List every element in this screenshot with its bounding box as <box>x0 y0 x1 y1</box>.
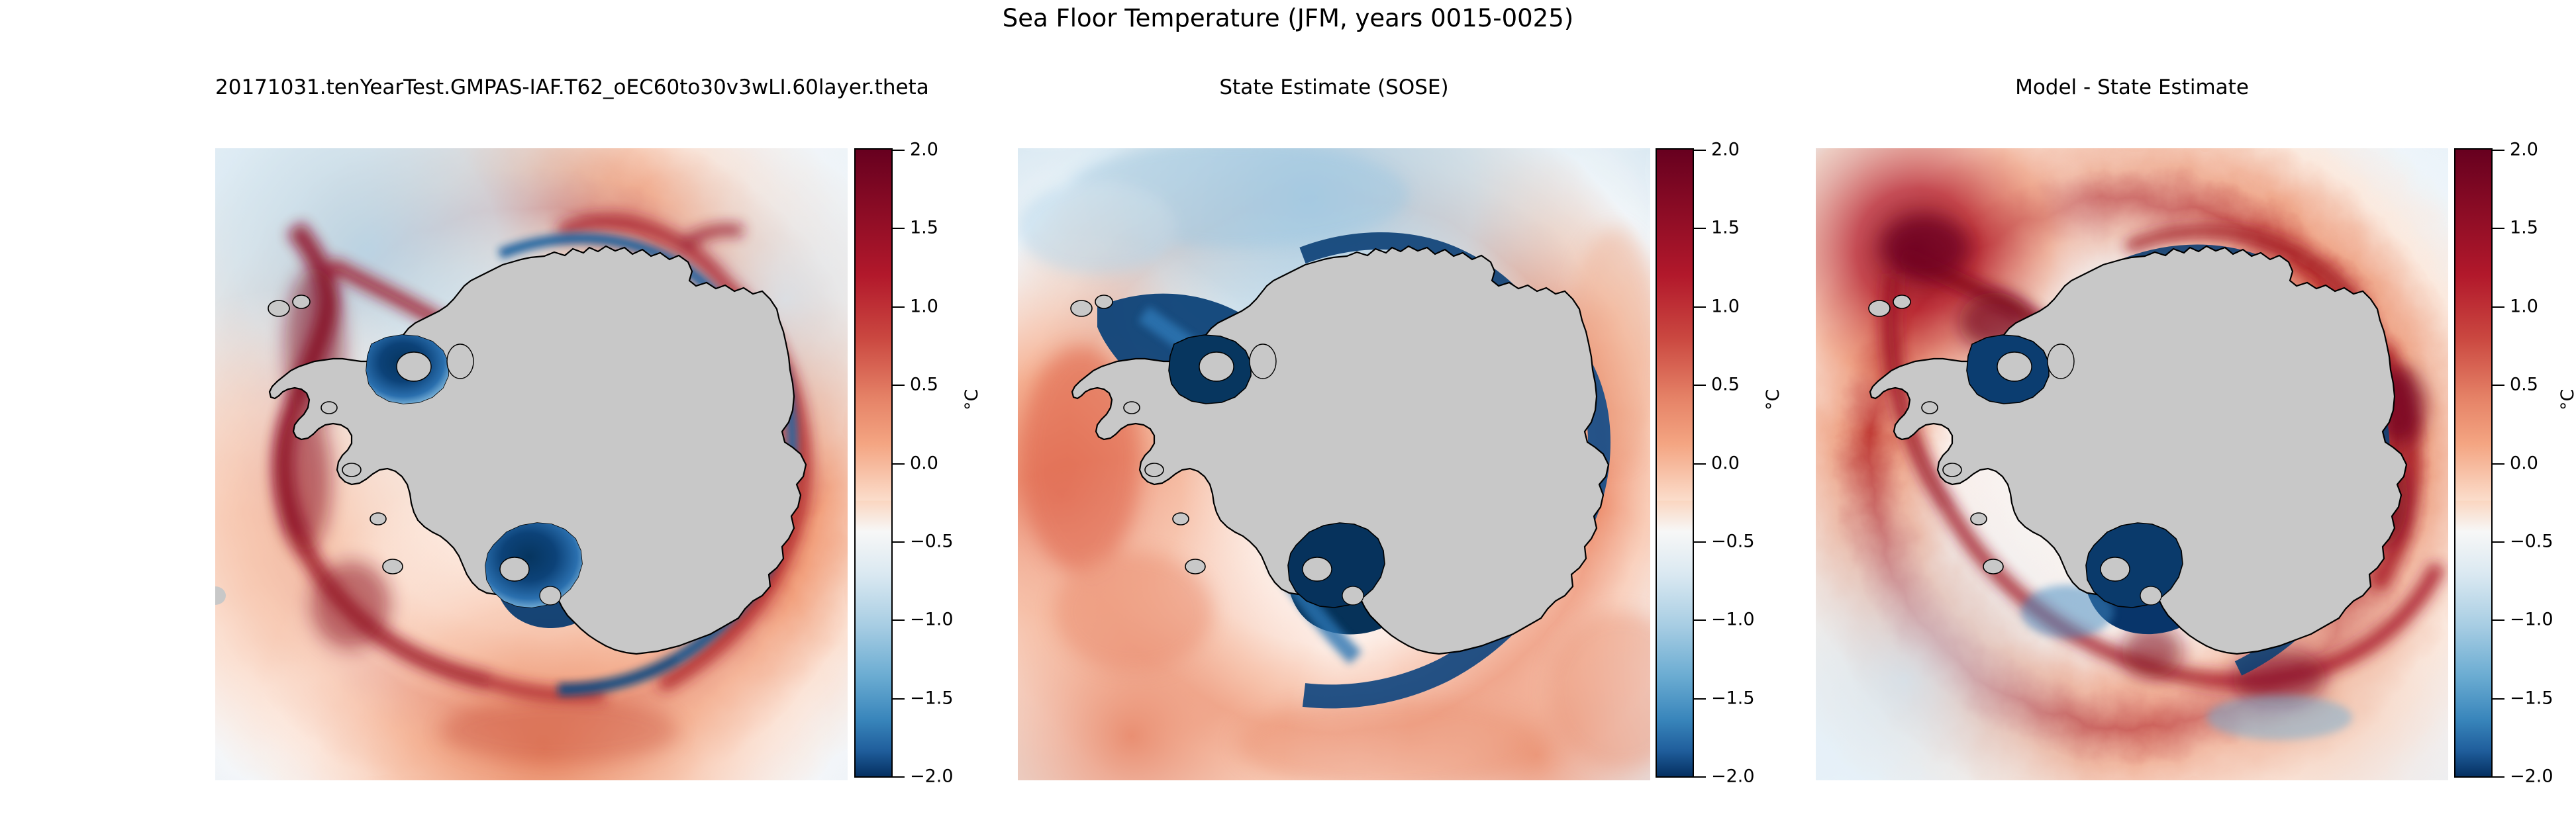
colorbar-tick-mark <box>893 463 905 465</box>
colorbar-tick-mark <box>1694 541 1706 543</box>
colorbar-tick-mark <box>1694 776 1706 778</box>
colorbar-gradient-difference <box>2455 150 2491 776</box>
colorbar-tick-label: 1.5 <box>1711 218 1740 238</box>
colorbar-tick-mark <box>893 541 905 543</box>
colorbar-tick-label: 2.0 <box>2510 140 2538 160</box>
colorbar-ticks-sose: 2.01.51.00.50.0−0.5−1.0−1.5−2.0 <box>1694 148 1787 778</box>
colorbar-tick-label: −0.5 <box>2510 531 2553 551</box>
panel-title-difference: Model - State Estimate <box>1816 75 2448 99</box>
figure-title: Sea Floor Temperature (JFM, years 0015-0… <box>0 4 2576 32</box>
colorbar-tick-label: −1.5 <box>1711 688 1755 708</box>
colorbar-gradient-sose <box>1657 150 1693 776</box>
colorbar-tick-label: −1.5 <box>910 688 954 708</box>
figure-canvas: Sea Floor Temperature (JFM, years 0015-0… <box>0 0 2576 822</box>
colorbar-tick-label: 1.0 <box>1711 296 1740 316</box>
colorbar-unit-difference: °C <box>2557 389 2576 410</box>
colorbar-tick-mark <box>1694 150 1706 151</box>
colorbar-tick-label: 0.5 <box>910 375 938 395</box>
colorbar-tick-label: −1.0 <box>2510 610 2553 630</box>
colorbar-sose[interactable] <box>1656 148 1694 778</box>
map-panel-difference[interactable] <box>1816 148 2448 780</box>
colorbar-tick-mark <box>2493 541 2504 543</box>
colorbar-tick-mark <box>893 150 905 151</box>
colorbar-tick-mark <box>1694 306 1706 308</box>
colorbar-tick-mark <box>893 776 905 778</box>
colorbar-tick-label: 1.5 <box>910 218 938 238</box>
colorbar-tick-mark <box>893 698 905 700</box>
colorbar-tick-mark <box>893 306 905 308</box>
panel-title-sose: State Estimate (SOSE) <box>1018 75 1650 99</box>
map-panel-sose[interactable] <box>1018 148 1650 780</box>
colorbar-tick-label: 0.5 <box>2510 375 2538 395</box>
colorbar-difference[interactable] <box>2454 148 2493 778</box>
colorbar-tick-label: −2.0 <box>2510 766 2553 787</box>
colorbar-tick-label: −2.0 <box>1711 766 1755 787</box>
colorbar-tick-label: −0.5 <box>1711 531 1755 551</box>
map-svg-difference <box>1816 148 2448 780</box>
colorbar-tick-label: −2.0 <box>910 766 954 787</box>
colorbar-tick-label: −1.0 <box>1711 610 1755 630</box>
colorbar-unit-sose: °C <box>1763 389 1783 410</box>
colorbar-gradient-model <box>856 150 891 776</box>
colorbar-tick-label: 0.0 <box>910 453 938 473</box>
colorbar-tick-mark <box>1694 228 1706 229</box>
map-svg-model <box>215 148 848 780</box>
colorbar-tick-mark <box>1694 463 1706 465</box>
colorbar-tick-mark <box>2493 150 2504 151</box>
map-svg-sose <box>1018 148 1650 780</box>
colorbar-tick-mark <box>2493 619 2504 621</box>
colorbar-tick-mark <box>1694 385 1706 386</box>
colorbar-ticks-difference: 2.01.51.00.50.0−0.5−1.0−1.5−2.0 <box>2493 148 2576 778</box>
colorbar-ticks-model: 2.01.51.00.50.0−0.5−1.0−1.5−2.0 <box>893 148 985 778</box>
colorbar-tick-mark <box>2493 306 2504 308</box>
colorbar-tick-label: −1.5 <box>2510 688 2553 708</box>
colorbar-tick-label: 0.0 <box>2510 453 2538 473</box>
colorbar-tick-mark <box>1694 619 1706 621</box>
colorbar-tick-label: 2.0 <box>910 140 938 160</box>
panel-title-model: 20171031.tenYearTest.GMPAS-IAF.T62_oEC60… <box>215 75 848 99</box>
colorbar-tick-label: 1.5 <box>2510 218 2538 238</box>
colorbar-tick-mark <box>2493 463 2504 465</box>
colorbar-model[interactable] <box>854 148 893 778</box>
colorbar-tick-mark <box>2493 228 2504 229</box>
colorbar-tick-label: 0.0 <box>1711 453 1740 473</box>
map-panel-model[interactable] <box>215 148 848 780</box>
colorbar-tick-label: 2.0 <box>1711 140 1740 160</box>
colorbar-tick-mark <box>2493 385 2504 386</box>
colorbar-tick-mark <box>893 385 905 386</box>
colorbar-tick-mark <box>893 228 905 229</box>
colorbar-tick-mark <box>2493 776 2504 778</box>
colorbar-tick-mark <box>2493 698 2504 700</box>
colorbar-tick-label: −0.5 <box>910 531 954 551</box>
colorbar-unit-model: °C <box>962 389 982 410</box>
colorbar-tick-label: 1.0 <box>910 296 938 316</box>
colorbar-tick-label: 0.5 <box>1711 375 1740 395</box>
colorbar-tick-label: −1.0 <box>910 610 954 630</box>
colorbar-tick-label: 1.0 <box>2510 296 2538 316</box>
colorbar-tick-mark <box>893 619 905 621</box>
colorbar-tick-mark <box>1694 698 1706 700</box>
